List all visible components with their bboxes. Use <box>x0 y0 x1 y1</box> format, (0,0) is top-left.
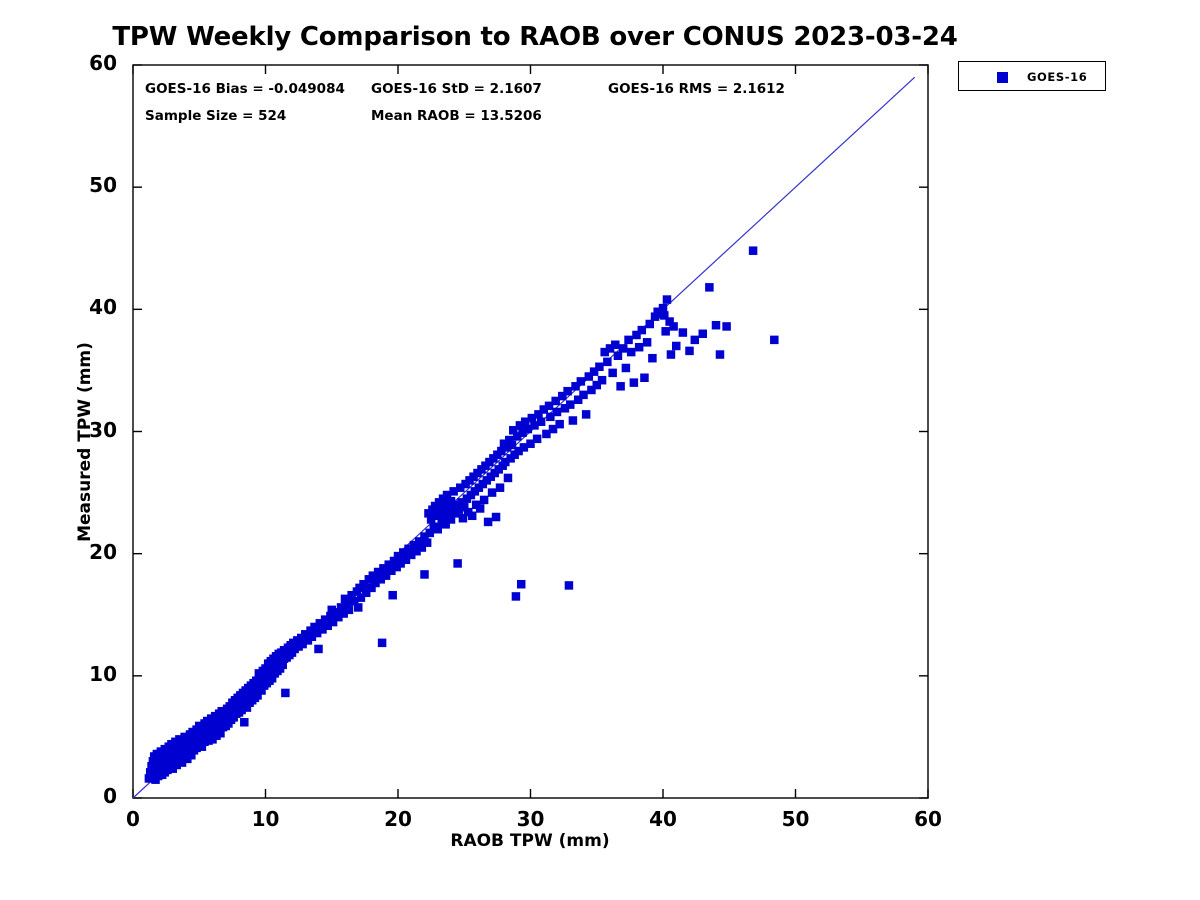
x-tick-label: 0 <box>103 807 163 831</box>
y-tick-label: 40 <box>57 295 117 319</box>
y-tick-label: 50 <box>57 173 117 197</box>
x-tick-label: 60 <box>898 807 958 831</box>
y-tick-label: 0 <box>57 784 117 808</box>
stat-std: GOES-16 StD = 2.1607 <box>371 81 542 97</box>
y-tick-label: 10 <box>57 662 117 686</box>
x-tick-label: 50 <box>766 807 826 831</box>
y-axis-label: Measured TPW (mm) <box>75 332 95 552</box>
x-tick-label: 30 <box>501 807 561 831</box>
scatter-plot-canvas <box>0 0 1200 900</box>
legend-swatch-goes16-icon <box>997 72 1008 83</box>
stat-rms: GOES-16 RMS = 2.1612 <box>608 81 785 97</box>
stat-bias: GOES-16 Bias = -0.049084 <box>145 81 345 97</box>
figure-container: TPW Weekly Comparison to RAOB over CONUS… <box>0 0 1200 900</box>
data-points-goes16 <box>145 246 779 783</box>
legend-label-goes16: GOES-16 <box>1027 70 1087 84</box>
legend: GOES-16 <box>958 61 1106 91</box>
x-tick-label: 40 <box>633 807 693 831</box>
stat-sample-size: Sample Size = 524 <box>145 108 286 124</box>
stat-mean-raob: Mean RAOB = 13.5206 <box>371 108 542 124</box>
x-tick-label: 10 <box>236 807 296 831</box>
x-tick-label: 20 <box>368 807 428 831</box>
x-axis-label: RAOB TPW (mm) <box>330 831 730 851</box>
y-tick-label: 60 <box>57 51 117 75</box>
